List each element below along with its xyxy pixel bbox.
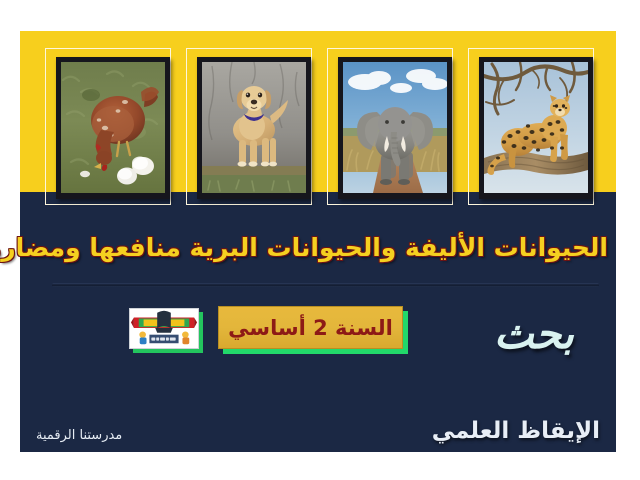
- photo-mat: [479, 57, 593, 199]
- photo-frame-dog[interactable]: [186, 48, 312, 205]
- meta-row: السنة 2 أساسي بحث: [20, 300, 616, 370]
- presentation-slide: الحيوانات الأليفة والحيوانات البرية مناف…: [0, 0, 640, 480]
- page-title: الحيوانات الأليفة والحيوانات البرية مناف…: [28, 232, 608, 263]
- photo-mat: [197, 57, 311, 199]
- photo-frame-leopard[interactable]: [468, 48, 594, 205]
- dog-labrador-image: [202, 62, 306, 193]
- leopard-in-tree-image: [484, 62, 588, 193]
- year-level-badge[interactable]: السنة 2 أساسي: [218, 306, 408, 354]
- subject-label: الإيقاظ العلمي: [432, 418, 600, 444]
- year-level-label: السنة 2 أساسي: [218, 306, 403, 349]
- research-word: بحث: [444, 298, 574, 368]
- school-logo[interactable]: [129, 308, 203, 353]
- elephant-image: [343, 62, 447, 193]
- credit-label: مدرستنا الرقمية: [36, 428, 122, 443]
- photo-frame-elephant[interactable]: [327, 48, 453, 205]
- photo-gallery: [20, 31, 616, 213]
- hen-with-eggs-image: [61, 62, 165, 193]
- title-divider: [52, 283, 599, 287]
- photo-frame-hen[interactable]: [45, 48, 171, 205]
- photo-mat: [56, 57, 170, 199]
- photo-mat: [338, 57, 452, 199]
- logo-card: [129, 308, 199, 349]
